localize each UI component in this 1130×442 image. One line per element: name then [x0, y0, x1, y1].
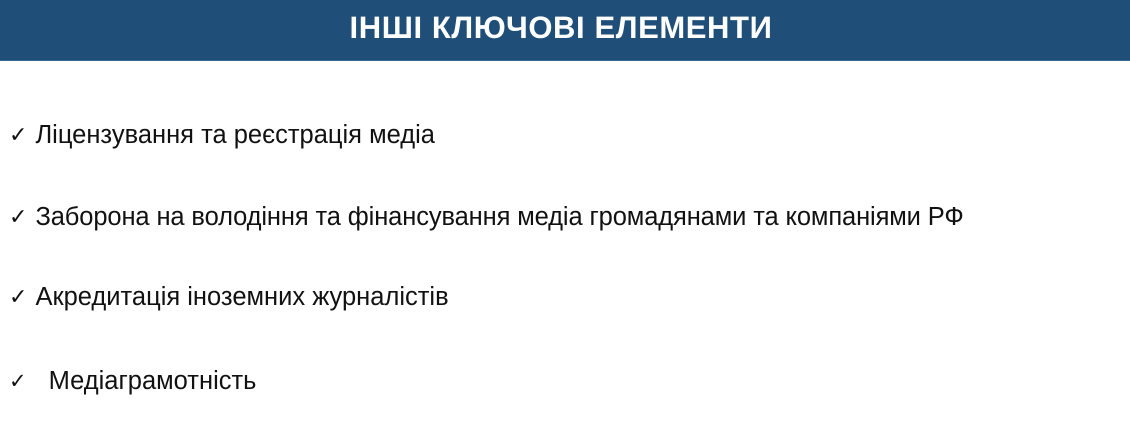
checkmark-icon: ✓ [9, 287, 27, 309]
checkmark-icon: ✓ [9, 207, 27, 229]
key-elements-list: ✓ Ліцензування та реєстрація медіа ✓ Заб… [0, 61, 1130, 442]
list-item-label: Акредитація іноземних журналістів [35, 283, 448, 312]
slide-title: ІНШІ КЛЮЧОВІ ЕЛЕМЕНТИ [350, 12, 773, 43]
list-item: ✓ Ліцензування та реєстрація медіа [9, 121, 1130, 150]
list-item: ✓ Медіаграмотність [9, 367, 1130, 396]
list-item-label: Заборона на володіння та фінансування ме… [35, 203, 963, 232]
list-item: ✓ Заборона на володіння та фінансування … [9, 203, 1130, 232]
slide-canvas: ІНШІ КЛЮЧОВІ ЕЛЕМЕНТИ ✓ Ліцензування та … [0, 0, 1130, 442]
list-item: ✓ Акредитація іноземних журналістів [9, 283, 1130, 312]
list-item-label: Ліцензування та реєстрація медіа [35, 121, 435, 150]
list-item-label: Медіаграмотність [49, 367, 257, 396]
slide-title-bar: ІНШІ КЛЮЧОВІ ЕЛЕМЕНТИ [0, 0, 1130, 61]
checkmark-icon: ✓ [9, 125, 27, 147]
checkmark-icon: ✓ [9, 371, 27, 392]
